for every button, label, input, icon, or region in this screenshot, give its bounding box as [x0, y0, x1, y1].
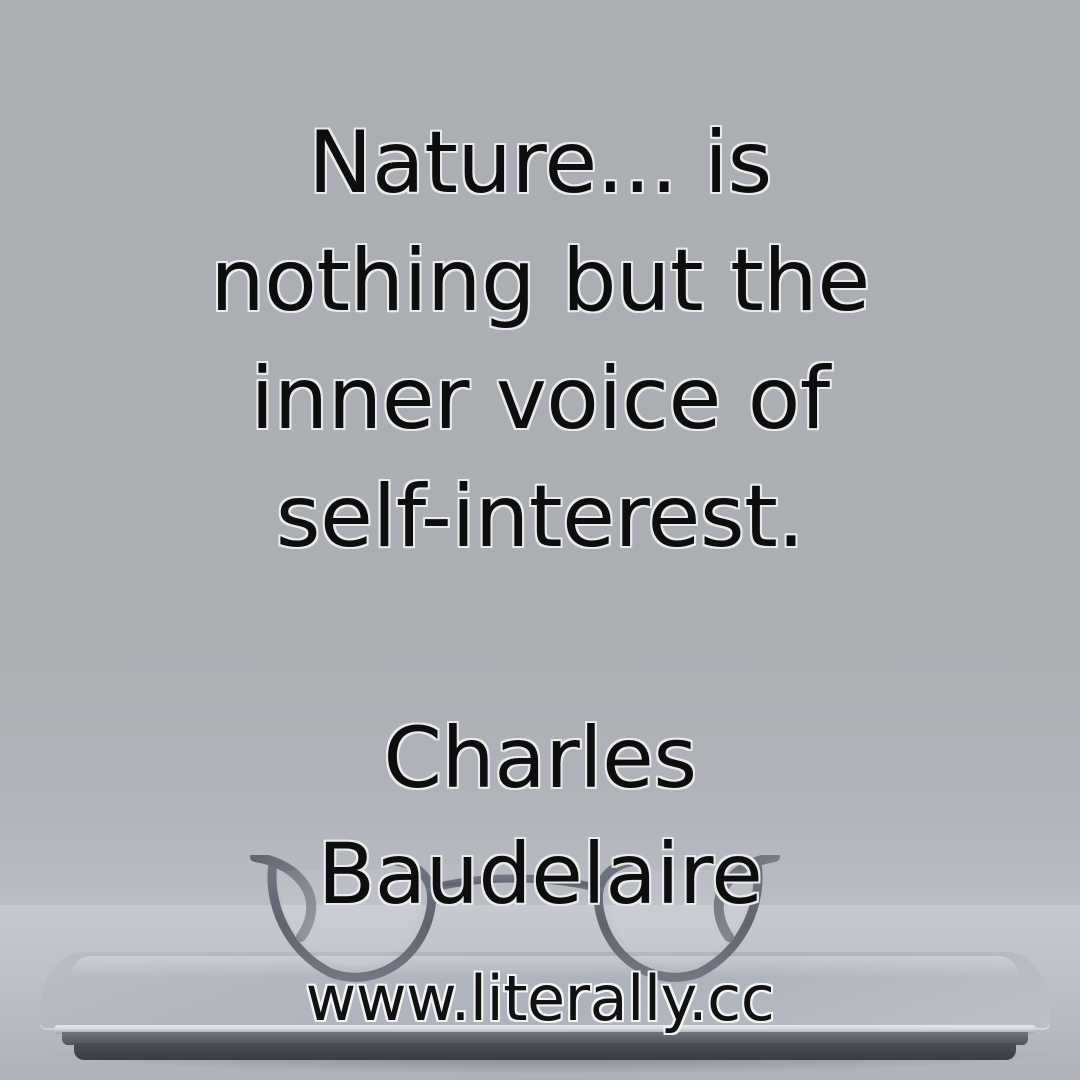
- text-overlay: Nature... is nothing but the inner voice…: [0, 0, 1080, 1080]
- quote-line-3: inner voice of: [190, 340, 890, 458]
- author-name: Charles Baudelaire: [190, 700, 890, 932]
- website-url[interactable]: www.literally.cc: [90, 966, 990, 1032]
- quote-line-1: Nature... is: [190, 104, 890, 222]
- quote-text: Nature... is nothing but the inner voice…: [190, 104, 890, 576]
- quote-line-4: self-interest.: [190, 458, 890, 576]
- author-line-2: Baudelaire: [190, 816, 890, 932]
- quote-line-2: nothing but the: [190, 222, 890, 340]
- quote-card: Nature... is nothing but the inner voice…: [0, 0, 1080, 1080]
- author-line-1: Charles: [190, 700, 890, 816]
